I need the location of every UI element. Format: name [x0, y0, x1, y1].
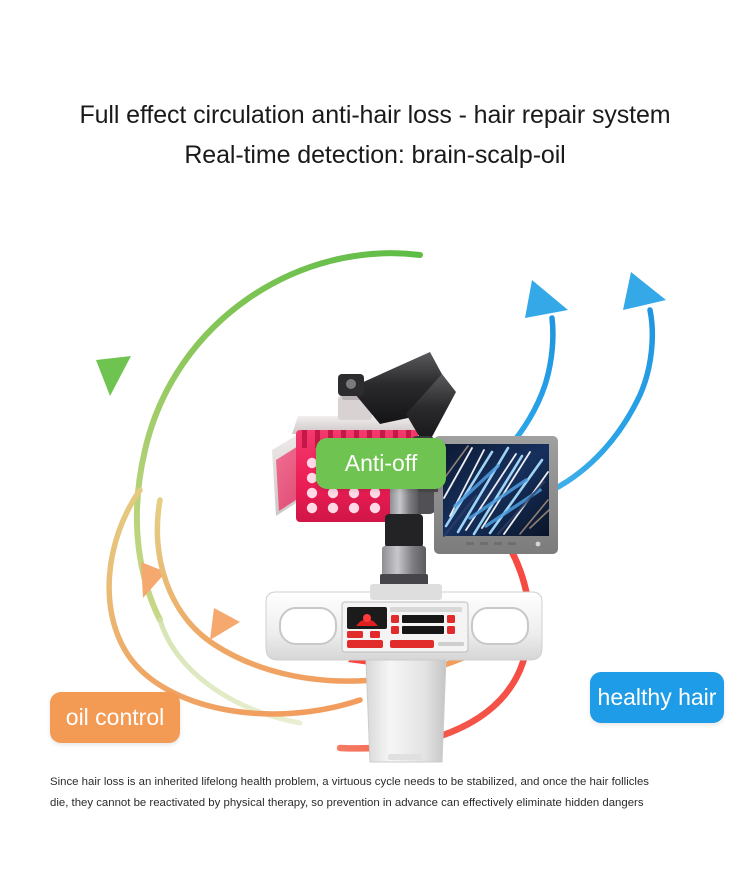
badge-healthy-hair-label: healthy hair	[598, 686, 717, 709]
machine-base	[266, 584, 542, 762]
cycle-diagram: Anti-off oil control healthy hair hair g…	[0, 200, 750, 770]
caption-line-2: die, they cannot be reactivated by physi…	[50, 793, 706, 814]
title-line-2: Real-time detection: brain-scalp-oil	[0, 138, 750, 172]
badge-healthy-hair[interactable]: healthy hair	[590, 672, 724, 723]
caption-line-1: Since hair loss is an inherited lifelong…	[50, 772, 706, 793]
badge-anti-off[interactable]: Anti-off	[316, 438, 446, 489]
footer-caption: Since hair loss is an inherited lifelong…	[50, 772, 706, 814]
badge-anti-off-label: Anti-off	[345, 452, 417, 475]
control-panel[interactable]	[342, 602, 468, 652]
infographic-page: Full effect circulation anti-hair loss -…	[0, 0, 750, 883]
page-title: Full effect circulation anti-hair loss -…	[0, 98, 750, 172]
badge-oil-control-label: oil control	[66, 706, 164, 729]
hair-growth-laser-machine	[230, 330, 570, 770]
badge-oil-control[interactable]: oil control	[50, 692, 180, 743]
title-line-1: Full effect circulation anti-hair loss -…	[0, 98, 750, 132]
